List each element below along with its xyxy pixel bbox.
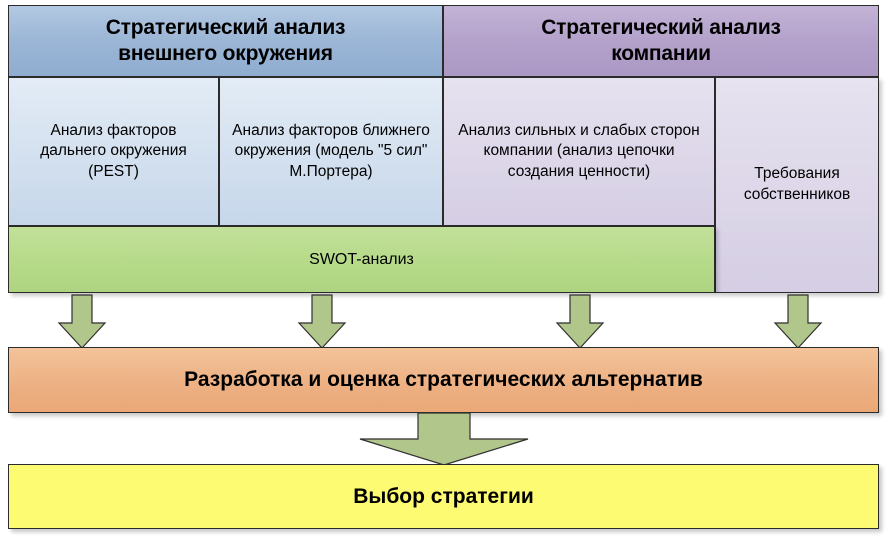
header-external-line1: Стратегический анализ (106, 15, 346, 41)
header-external-analysis-text: Стратегический анализ внешнего окружения (106, 15, 346, 66)
down-arrow-icon-2 (298, 295, 346, 349)
cell-porter-five-forces: Анализ факторов ближнего окружения (моде… (219, 77, 443, 226)
header-internal-line1: Стратегический анализ (541, 15, 781, 41)
header-internal-line2: компании (541, 41, 781, 67)
swot-analysis-band: SWOT-анализ (8, 226, 715, 293)
cell-pest-analysis: Анализ факторов дальнего окружения (PEST… (8, 77, 219, 226)
strategic-analysis-diagram: Стратегический анализ внешнего окружения… (0, 0, 887, 538)
down-arrow-icon-1 (58, 295, 106, 349)
strategy-choice-label: Выбор стратегии (353, 485, 534, 509)
swot-analysis-label: SWOT-анализ (309, 251, 414, 269)
cell-owner-requirements: Требования собственников (715, 77, 879, 293)
strategy-choice-box: Выбор стратегии (8, 464, 879, 529)
down-arrow-icon-4 (774, 295, 822, 349)
cell-value-chain-analysis-label: Анализ сильных и слабых сторон компании … (452, 121, 706, 183)
alternatives-label: Разработка и оценка стратегических альте… (184, 368, 703, 392)
cell-pest-analysis-label: Анализ факторов дальнего окружения (PEST… (17, 121, 210, 183)
cell-porter-five-forces-label: Анализ факторов ближнего окружения (моде… (228, 121, 434, 183)
cell-owner-requirements-label: Требования собственников (724, 164, 870, 205)
header-internal-analysis: Стратегический анализ компании (443, 5, 879, 77)
alternatives-box: Разработка и оценка стратегических альте… (8, 347, 879, 413)
header-external-line2: внешнего окружения (106, 41, 346, 67)
header-external-analysis: Стратегический анализ внешнего окружения (8, 5, 443, 77)
cell-value-chain-analysis: Анализ сильных и слабых сторон компании … (443, 77, 715, 226)
down-arrow-icon-large (358, 413, 530, 466)
down-arrow-icon-3 (556, 295, 604, 349)
header-internal-analysis-text: Стратегический анализ компании (541, 15, 781, 66)
